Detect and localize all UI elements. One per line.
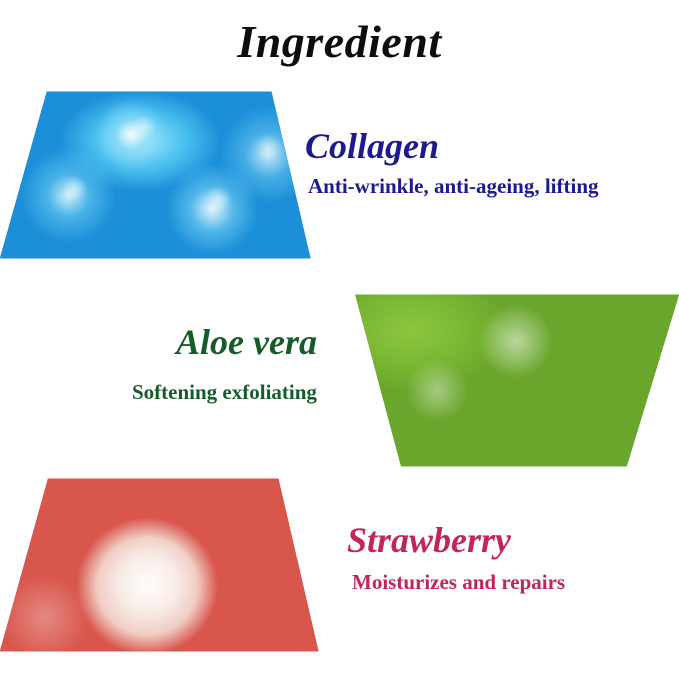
collagen-image-gloss [0,90,312,260]
aloe-vera-image-gloss [352,292,679,468]
strawberry-image-gloss [0,477,320,653]
aloe-vera-image [352,292,679,468]
collagen-description-label: Anti-wrinkle, anti-ageing, lifting [308,172,599,200]
collagen-image [0,90,312,260]
aloe-vera-description-label: Softening exfoliating [132,378,317,406]
page-title: Ingredient [0,14,679,70]
strawberry-name-label: Strawberry [347,518,511,562]
strawberry-image [0,477,320,653]
infographic-page: Ingredient Collagen Anti-wrinkle, anti-a… [0,0,679,679]
aloe-vera-name-label: Aloe vera [176,320,317,364]
collagen-name-label: Collagen [305,124,439,168]
strawberry-description-label: Moisturizes and repairs [352,568,565,596]
